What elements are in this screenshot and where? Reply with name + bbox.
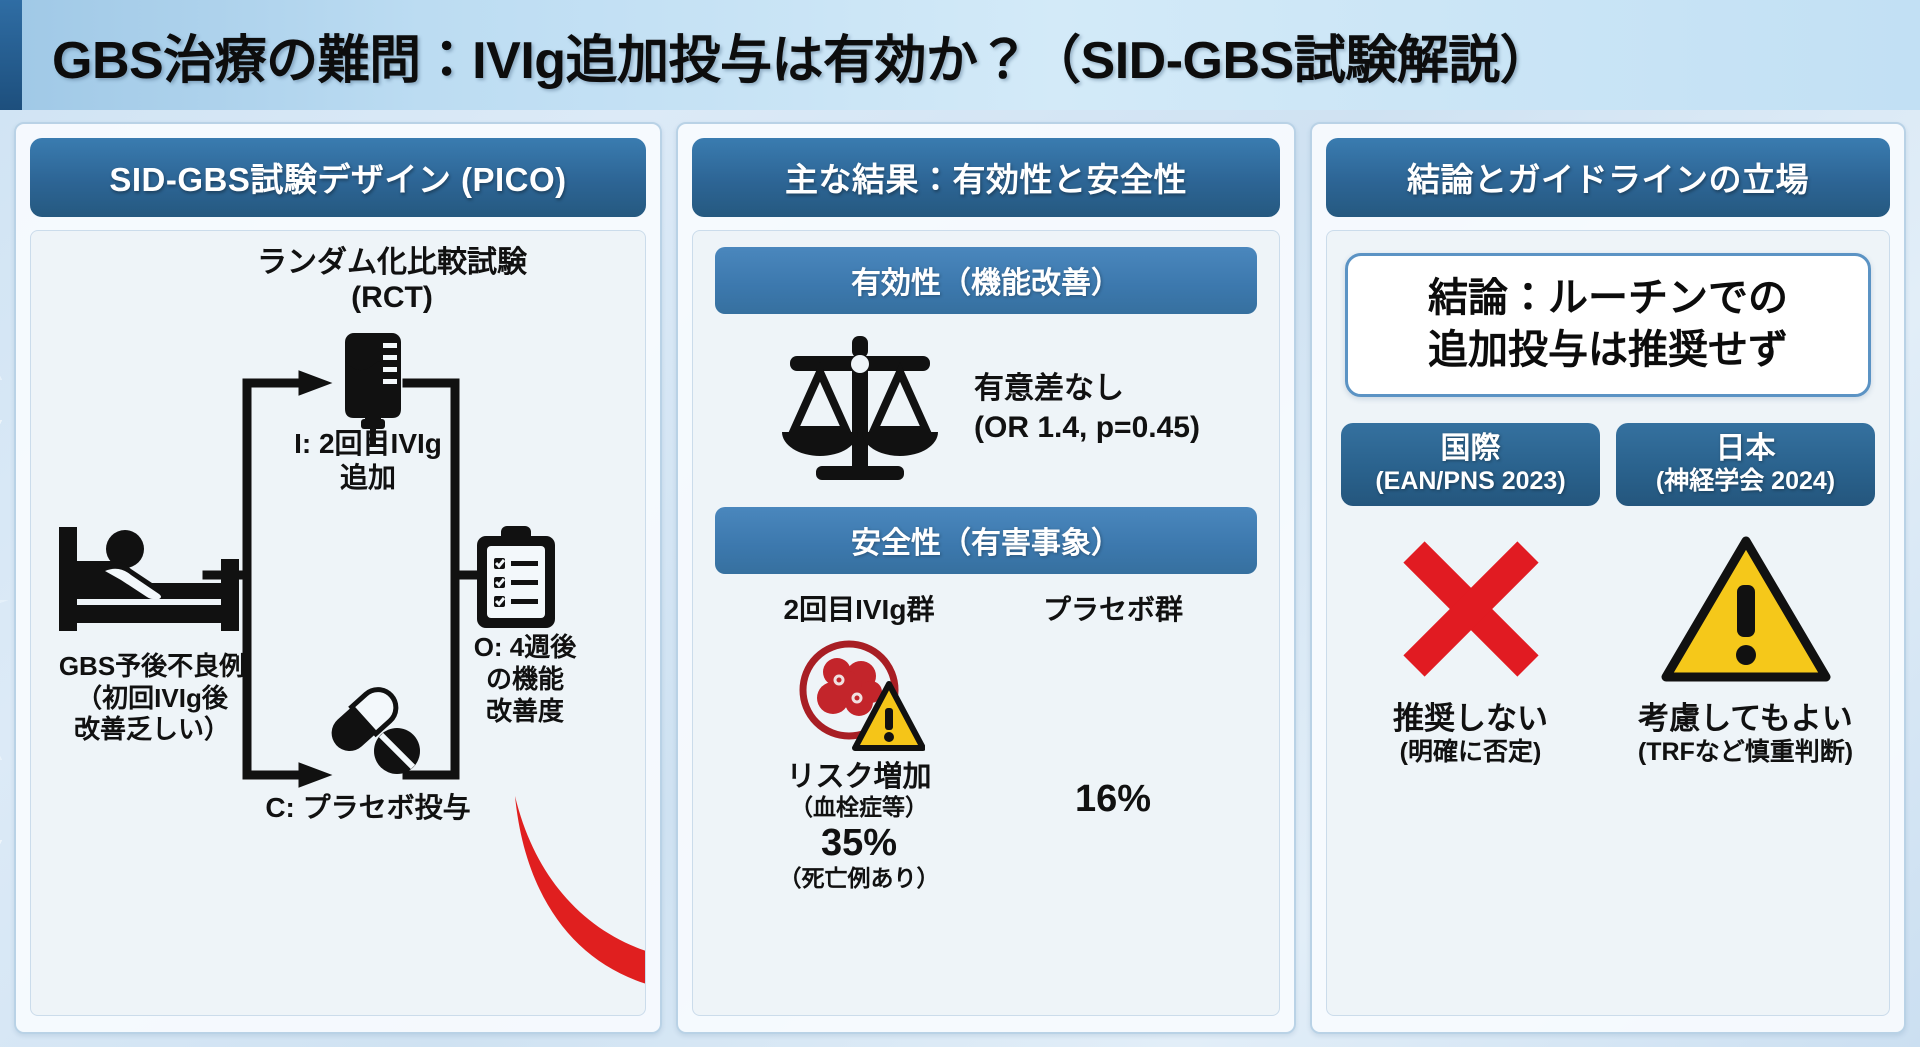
guideline-cards: 国際 (EAN/PNS 2023) 推奨しない: [1327, 423, 1889, 767]
panel-design-header: SID-GBS試験デザイン (PICO): [30, 138, 646, 217]
efficacy-result-text: 有意差なし (OR 1.4, p=0.45): [974, 370, 1200, 447]
efficacy-result-row: 有意差なし (OR 1.4, p=0.45): [693, 326, 1279, 491]
safety-placebo-value: 16%: [988, 778, 1238, 821]
pico-population-label: GBS予後不良例 （初回IVIg後 改善乏しい）: [37, 651, 267, 746]
safety-risk-sublabel: （血栓症等）: [734, 794, 984, 820]
safety-placebo-group-label: プラセボ群: [988, 588, 1238, 628]
panel-study-design: SID-GBS試験デザイン (PICO): [14, 122, 662, 1034]
safety-treatment-value: 35%: [734, 823, 984, 865]
pico-outcome-line2: の機能: [455, 663, 595, 695]
guideline-international-verdict: 推奨しない: [1341, 701, 1600, 738]
blood-clot-warning-icon: [734, 636, 984, 757]
pico-outcome-label: O: 4週後 の機能 改善度: [455, 631, 595, 728]
panel-results-body: 有効性（機能改善）: [692, 230, 1280, 1016]
panel-design-body: ランダム化比較試験 (RCT): [30, 230, 646, 1016]
study-design-label-line2: (RCT): [227, 280, 557, 315]
pills-capsule-icon: [319, 681, 427, 782]
title-bar: GBS治療の難問：IVIg追加投与は有効か？（SID-GBS試験解説）: [0, 0, 1920, 110]
panel-conclusion-header: 結論とガイドラインの立場: [1326, 138, 1890, 217]
clipboard-checklist-icon: [473, 526, 559, 635]
yellow-warning-triangle-icon: [1616, 516, 1875, 701]
red-cross-mark-icon: [1341, 516, 1600, 701]
guideline-international-note: (明確に否定): [1341, 738, 1600, 768]
safety-risk-note: （死亡例あり）: [734, 865, 984, 891]
safety-treatment-group-label: 2回目IVIg群: [734, 588, 984, 628]
guideline-japan-verdict: 考慮してもよい: [1616, 701, 1875, 738]
pico-population-line2: （初回IVIg後: [37, 683, 267, 715]
conclusion-line2: 追加投与は推奨せず: [1358, 324, 1858, 376]
guideline-international-source: (EAN/PNS 2023): [1345, 467, 1596, 496]
study-design-label-line1: ランダム化比較試験: [227, 245, 557, 280]
guideline-card-international: 国際 (EAN/PNS 2023) 推奨しない: [1341, 423, 1600, 767]
panel-conclusion-body: 結論：ルーチンでの 追加投与は推奨せず 国際 (EAN/PNS 2023): [1326, 230, 1890, 1016]
pico-intervention-line2: 追加: [263, 461, 473, 495]
guideline-international-region: 国際: [1345, 432, 1596, 467]
safety-column-placebo: プラセボ群 16%: [988, 588, 1238, 891]
guideline-japan-region: 日本: [1620, 432, 1871, 467]
guideline-card-japan: 日本 (神経学会 2024) 考慮してもよい (TRFなど慎重判断): [1616, 423, 1875, 767]
patient-in-bed-icon: [53, 521, 253, 646]
guideline-japan-source: (神経学会 2024): [1620, 467, 1871, 496]
safety-column-treatment: 2回目IVIg群: [734, 588, 984, 891]
pico-population-line3: 改善乏しい）: [37, 714, 267, 746]
guideline-japan-note: (TRFなど慎重判断): [1616, 738, 1875, 768]
panel-results: 主な結果：有効性と安全性 有効性（機能改善）: [676, 122, 1296, 1034]
pico-intervention-line1: I: 2回目IVIg: [263, 427, 473, 461]
safety-comparison-grid: 2回目IVIg群: [693, 588, 1279, 891]
efficacy-subheader: 有効性（機能改善）: [715, 247, 1257, 314]
pico-population-line1: GBS予後不良例: [37, 651, 267, 683]
efficacy-result-line1: 有意差なし: [974, 370, 1200, 408]
pico-diagram: ランダム化比較試験 (RCT): [31, 231, 645, 1015]
efficacy-result-line2: (OR 1.4, p=0.45): [974, 409, 1200, 447]
safety-risk-label: リスク増加: [734, 761, 984, 794]
pico-outcome-line1: O: 4週後: [455, 631, 595, 663]
panel-columns: SID-GBS試験デザイン (PICO): [14, 122, 1906, 1034]
panel-conclusion: 結論とガイドラインの立場 結論：ルーチンでの 追加投与は推奨せず 国際 (EAN…: [1310, 122, 1906, 1034]
pico-comparison-label: C: プラセボ投与: [243, 791, 493, 825]
title-accent-bar: [0, 0, 22, 110]
pico-outcome-line3: 改善度: [455, 695, 595, 727]
safety-subheader: 安全性（有害事象）: [715, 507, 1257, 574]
study-design-label: ランダム化比較試験 (RCT): [227, 245, 557, 316]
guideline-japan-header: 日本 (神経学会 2024): [1616, 423, 1875, 506]
panel-results-header: 主な結果：有効性と安全性: [692, 138, 1280, 217]
infographic-poster: GBS治療の難問：IVIg追加投与は有効か？（SID-GBS試験解説） SID-…: [0, 0, 1920, 1047]
pico-intervention-label: I: 2回目IVIg 追加: [263, 427, 473, 494]
balance-scale-icon: [772, 326, 948, 491]
conclusion-callout: 結論：ルーチンでの 追加投与は推奨せず: [1345, 253, 1871, 397]
guideline-international-header: 国際 (EAN/PNS 2023): [1341, 423, 1600, 506]
page-title: GBS治療の難問：IVIg追加投与は有効か？（SID-GBS試験解説）: [22, 18, 1551, 93]
conclusion-line1: 結論：ルーチンでの: [1358, 272, 1858, 324]
